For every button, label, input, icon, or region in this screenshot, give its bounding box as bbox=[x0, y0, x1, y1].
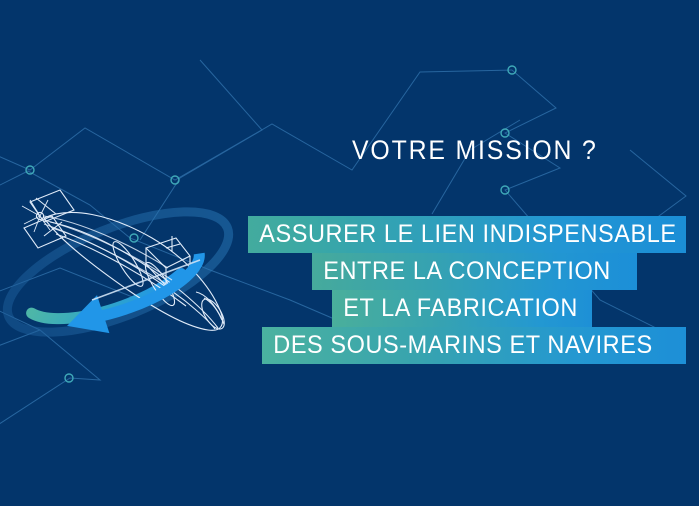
banner-line-3-text: ET LA FABRICATION bbox=[332, 290, 589, 327]
poster-canvas: VOTRE MISSION ? ASSURER LE LIEN INDISPEN… bbox=[0, 0, 699, 506]
banner-line-2: ENTRE LA CONCEPTION bbox=[312, 253, 637, 290]
banner-line-1-text: ASSURER LE LIEN INDISPENSABLE bbox=[248, 216, 688, 253]
banner-line-4-text: DES SOUS-MARINS ET NAVIRES bbox=[262, 327, 664, 364]
banner-stack: ASSURER LE LIEN INDISPENSABLE ENTRE LA C… bbox=[0, 216, 699, 364]
page-headline: VOTRE MISSION ? bbox=[352, 134, 598, 166]
banner-line-4: DES SOUS-MARINS ET NAVIRES bbox=[262, 327, 686, 364]
banner-line-1: ASSURER LE LIEN INDISPENSABLE bbox=[248, 216, 686, 253]
banner-line-2-text: ENTRE LA CONCEPTION bbox=[312, 253, 622, 290]
banner-line-3: ET LA FABRICATION bbox=[332, 290, 592, 327]
